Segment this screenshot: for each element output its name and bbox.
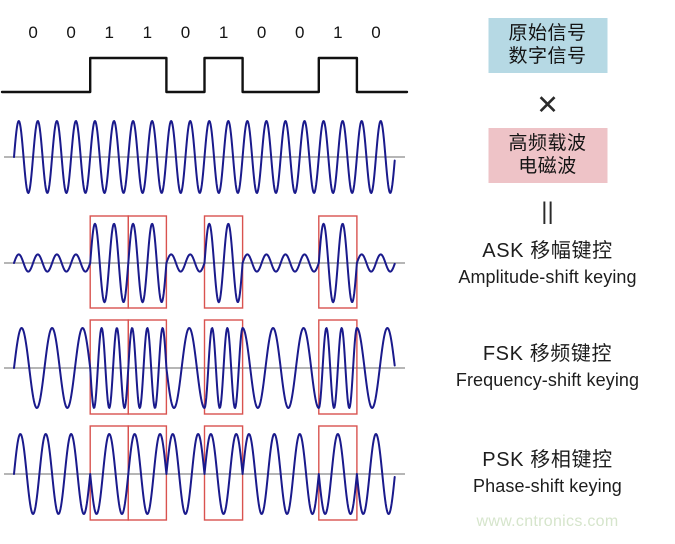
bit-label: 0 bbox=[28, 23, 37, 42]
highlight-box bbox=[128, 426, 166, 520]
bit-label: 0 bbox=[66, 23, 75, 42]
psk-row bbox=[0, 424, 420, 524]
fsk-label-short: FSK 移频键控 bbox=[420, 341, 675, 368]
psk-label-long: Phase-shift keying bbox=[420, 474, 675, 498]
highlight-box bbox=[90, 426, 128, 520]
digital-signal-waveform: 0011010010 bbox=[0, 18, 420, 100]
carrier-waveform bbox=[0, 112, 420, 202]
waveform-column: 0011010010 bbox=[0, 0, 420, 544]
site-watermark: www.cntronics.com bbox=[420, 513, 675, 531]
carrier-signal-line-1: 高频载波 bbox=[490, 132, 605, 155]
psk-label: PSK 移相键控 Phase-shift keying bbox=[420, 447, 675, 498]
psk-label-short: PSK 移相键控 bbox=[420, 447, 675, 474]
bit-label: 1 bbox=[333, 23, 342, 42]
ask-label-short: ASK 移幅键控 bbox=[420, 238, 675, 265]
ask-label: ASK 移幅键控 Amplitude-shift keying bbox=[420, 238, 675, 289]
carrier-signal-line-2: 电磁波 bbox=[490, 155, 605, 178]
digital-signal-row: 0011010010 bbox=[0, 18, 420, 100]
source-signal-box: 原始信号 数字信号 bbox=[488, 18, 607, 73]
legend-column: 原始信号 数字信号 ✕ 高频载波 电磁波 || ASK 移幅键控 Amplitu… bbox=[420, 0, 675, 544]
psk-waveform bbox=[0, 424, 420, 524]
fsk-waveform bbox=[0, 318, 420, 418]
bit-label: 0 bbox=[181, 23, 190, 42]
source-signal-line-1: 原始信号 bbox=[490, 22, 605, 45]
carrier-row bbox=[0, 112, 420, 202]
highlight-box bbox=[205, 426, 243, 520]
equals-icon: || bbox=[541, 200, 553, 224]
fsk-label: FSK 移频键控 Frequency-shift keying bbox=[420, 341, 675, 392]
ask-row bbox=[0, 214, 420, 312]
ask-label-long: Amplitude-shift keying bbox=[420, 265, 675, 289]
multiply-icon: ✕ bbox=[536, 92, 559, 119]
fsk-label-long: Frequency-shift keying bbox=[420, 368, 675, 392]
bit-label: 0 bbox=[295, 23, 304, 42]
source-signal-line-2: 数字信号 bbox=[490, 45, 605, 68]
bit-label: 0 bbox=[257, 23, 266, 42]
bit-label: 0 bbox=[371, 23, 380, 42]
highlight-box bbox=[319, 426, 357, 520]
fsk-row bbox=[0, 318, 420, 418]
ask-waveform bbox=[0, 214, 420, 312]
bit-label: 1 bbox=[219, 23, 228, 42]
bit-label: 1 bbox=[105, 23, 114, 42]
carrier-signal-box: 高频载波 电磁波 bbox=[488, 128, 607, 183]
bit-label: 1 bbox=[143, 23, 152, 42]
